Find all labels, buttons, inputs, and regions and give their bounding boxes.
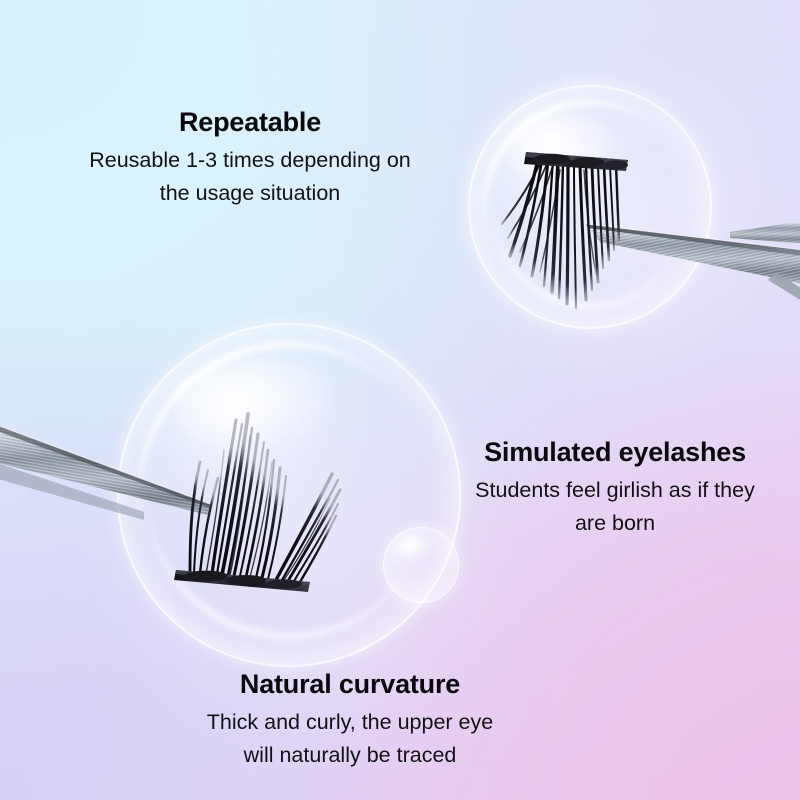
feature-description-line: Students feel girlish as if they xyxy=(475,478,755,502)
feature-title-repeatable: Repeatable xyxy=(40,108,460,137)
feature-description-line: Thick and curly, the upper eye xyxy=(207,710,493,734)
feature-description-line: are born xyxy=(575,511,655,535)
feature-title-simulated-eyelashes: Simulated eyelashes xyxy=(440,438,790,467)
feature-description-natural-curvature: Thick and curly, the upper eye will natu… xyxy=(150,706,550,771)
top-lash-cluster xyxy=(500,140,680,330)
feature-poster: Repeatable Reusable 1-3 times depending … xyxy=(0,0,800,800)
feature-block-simulated-eyelashes: Simulated eyelashes Students feel girlis… xyxy=(440,438,790,540)
feature-description-line: the usage situation xyxy=(160,181,341,205)
bottom-lash-cluster xyxy=(160,390,380,600)
feature-description-line: Reusable 1-3 times depending on xyxy=(89,148,411,172)
feature-block-natural-curvature: Natural curvature Thick and curly, the u… xyxy=(150,670,550,772)
feature-description-line: will naturally be traced xyxy=(244,743,457,767)
feature-description-simulated-eyelashes: Students feel girlish as if they are bor… xyxy=(440,474,790,539)
feature-title-natural-curvature: Natural curvature xyxy=(150,670,550,699)
small-bubble-highlight xyxy=(395,535,433,559)
feature-block-repeatable: Repeatable Reusable 1-3 times depending … xyxy=(40,108,460,210)
feature-description-repeatable: Reusable 1-3 times depending on the usag… xyxy=(40,144,460,209)
